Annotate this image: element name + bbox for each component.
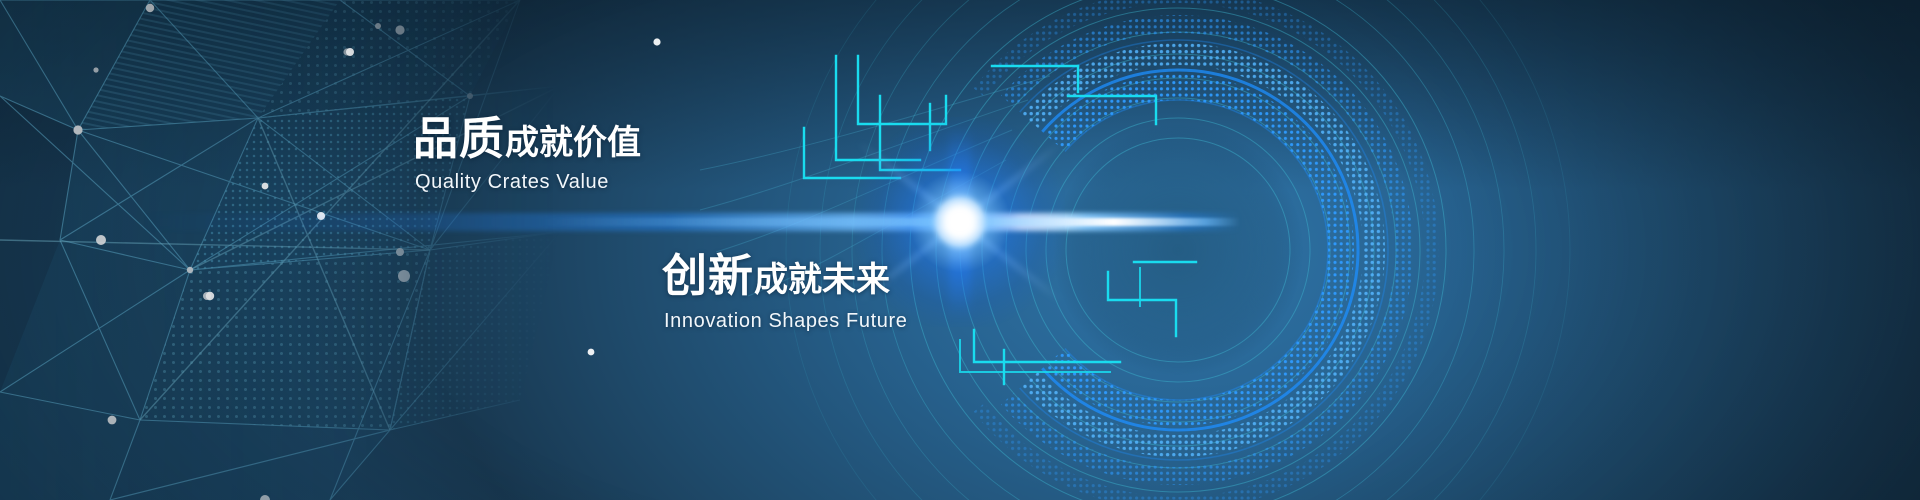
slogan-quality: 品质成就价值 Quality Crates Value [413,116,641,194]
flare-horizontal-streak-inner [540,218,1240,226]
slogan-innovation: 创新成就未来 Innovation Shapes Future [662,253,907,333]
slogan-innovation-subtitle: Innovation Shapes Future [664,310,907,333]
slogan-quality-headline-primary: 品质 [413,113,505,164]
slogan-quality-headline-secondary: 成就价值 [505,124,641,162]
hero-banner: 品质成就价值 Quality Crates Value 创新成就未来 Innov… [0,0,1920,500]
slogan-quality-headline: 品质成就价值 [413,116,641,161]
slogan-innovation-headline-primary: 创新 [662,250,754,301]
slogan-innovation-headline-secondary: 成就未来 [754,261,890,299]
slogan-quality-subtitle: Quality Crates Value [415,171,641,194]
flare-core [934,196,986,248]
slogan-innovation-headline: 创新成就未来 [662,253,907,298]
